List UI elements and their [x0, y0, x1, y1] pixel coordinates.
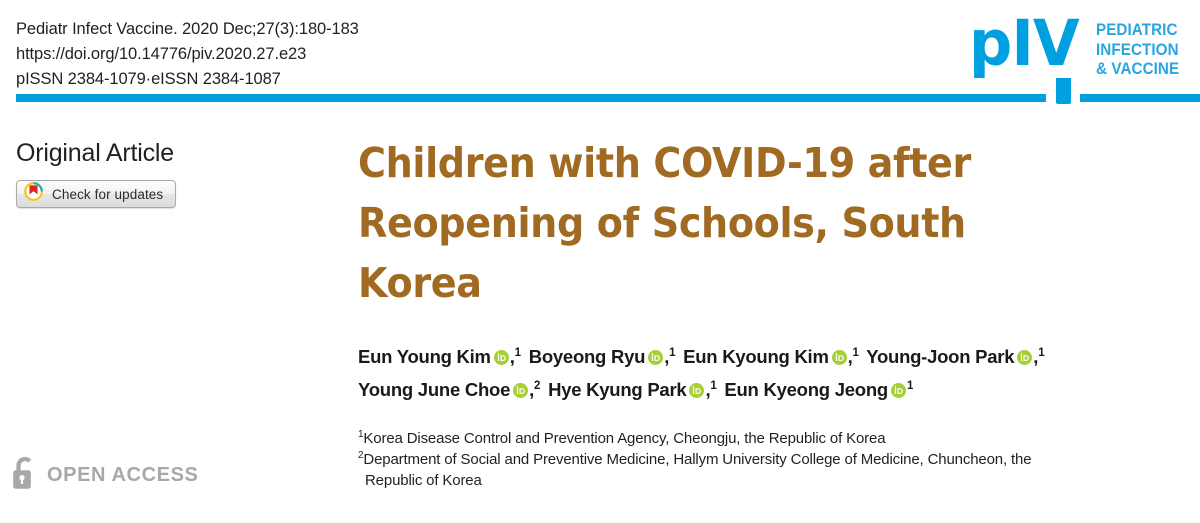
piv-wordmark-text: pIV [969, 7, 1079, 80]
orcid-id-icon[interactable] [1017, 343, 1032, 374]
orcid-id-icon[interactable] [494, 343, 509, 374]
affiliation-list: 1Korea Disease Control and Prevention Ag… [358, 428, 1158, 491]
piv-journal-logo: pIV PEDIATRIC INFECTION & VACCINE [969, 16, 1186, 88]
orcid-id-icon[interactable] [689, 376, 704, 407]
citation-line-issn: pISSN 2384-1079·eISSN 2384-1087 [16, 67, 359, 92]
journal-citation-block: Pediatr Infect Vaccine. 2020 Dec;27(3):1… [16, 17, 359, 92]
crossmark-icon [24, 182, 43, 206]
author-list: Eun Young Kim,1 Boyeong Ryu,1 Eun Kyoung… [358, 341, 1188, 407]
author-entry: Eun Kyoung Kim,1 [683, 346, 859, 367]
affiliation-item: 2Department of Social and Preventive Med… [358, 449, 1158, 470]
author-affiliation-marker: 1 [1038, 347, 1044, 359]
author-entry: Eun Kyeong Jeong1 [724, 379, 913, 400]
author-name: Eun Young Kim [358, 346, 491, 367]
author-name: Hye Kyung Park [548, 379, 686, 400]
author-entry: Hye Kyung Park,1 [548, 379, 716, 400]
orcid-id-icon[interactable] [513, 376, 528, 407]
title-line-2: Reopening of Schools, South Korea [358, 193, 1102, 313]
check-for-updates-button[interactable]: Check for updates [16, 180, 176, 208]
author-affiliation-marker: 2 [534, 380, 540, 392]
author-affiliation-marker: 1 [853, 347, 859, 359]
affiliation-item: 1Korea Disease Control and Prevention Ag… [358, 428, 1158, 449]
affiliation-continuation: Republic of Korea [358, 470, 1158, 491]
author-entry: Eun Young Kim,1 [358, 346, 521, 367]
author-entry: Young June Choe,2 [358, 379, 540, 400]
author-entry: Young-Joon Park,1 [866, 346, 1044, 367]
affiliation-text: Department of Social and Preventive Medi… [363, 451, 1031, 468]
orcid-id-icon[interactable] [891, 376, 906, 407]
author-name: Eun Kyeong Jeong [724, 379, 888, 400]
orcid-id-icon[interactable] [648, 343, 663, 374]
open-padlock-icon [10, 454, 40, 497]
piv-p-descender-icon [1056, 78, 1071, 104]
open-access-badge: OPEN ACCESS [10, 454, 198, 497]
logo-word-line-1: PEDIATRIC [1096, 21, 1179, 41]
author-name: Young June Choe [358, 379, 510, 400]
logo-word-line-2: INFECTION [1096, 41, 1179, 61]
open-access-label: OPEN ACCESS [47, 464, 198, 487]
author-affiliation-marker: 1 [669, 347, 675, 359]
author-affiliation-marker: 1 [710, 380, 716, 392]
header-divider-rule [16, 94, 1200, 102]
author-affiliation-marker: 1 [907, 380, 913, 392]
author-name: Eun Kyoung Kim [683, 346, 829, 367]
logo-word-line-3: & VACCINE [1096, 60, 1179, 80]
piv-logo-subtitle: PEDIATRIC INFECTION & VACCINE [1096, 21, 1179, 80]
citation-line-1: Pediatr Infect Vaccine. 2020 Dec;27(3):1… [16, 17, 359, 42]
orcid-id-icon[interactable] [832, 343, 847, 374]
page-title: Children with COVID-19 after Reopening o… [358, 133, 1102, 313]
affiliation-text: Korea Disease Control and Prevention Age… [363, 430, 885, 447]
author-affiliation-marker: 1 [515, 347, 521, 359]
author-name: Young-Joon Park [866, 346, 1014, 367]
check-for-updates-label: Check for updates [52, 187, 163, 202]
author-entry: Boyeong Ryu,1 [529, 346, 676, 367]
article-type-label: Original Article [16, 137, 174, 169]
citation-line-doi[interactable]: https://doi.org/10.14776/piv.2020.27.e23 [16, 42, 359, 67]
header-divider-rule-right [1080, 94, 1186, 102]
author-name: Boyeong Ryu [529, 346, 645, 367]
title-line-1: Children with COVID-19 after [358, 133, 1102, 193]
